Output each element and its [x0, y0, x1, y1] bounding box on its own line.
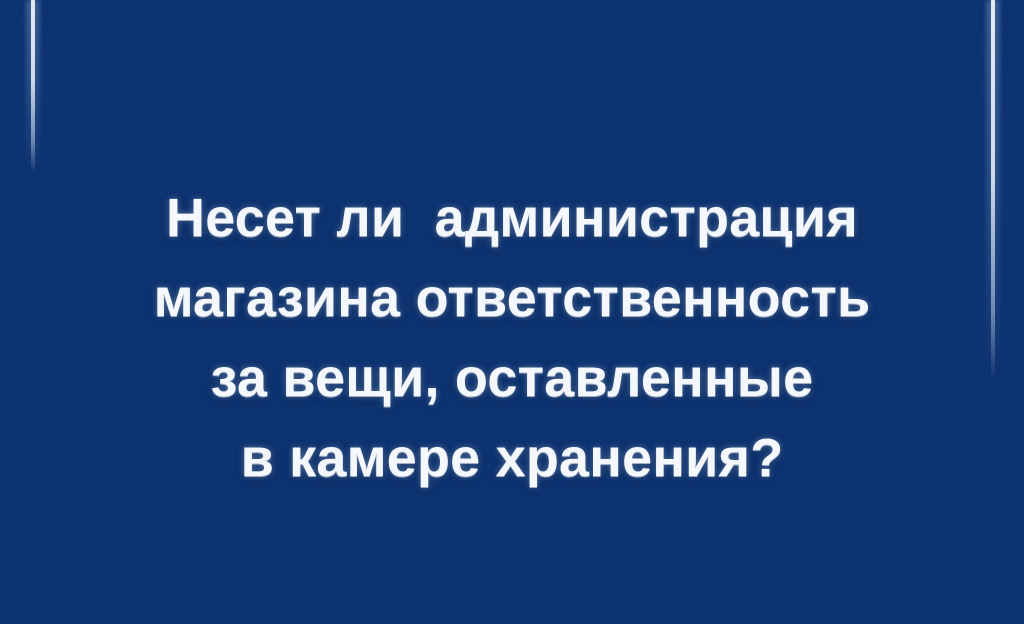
quote-line-4: в камере хранения? [0, 418, 1024, 498]
quote-text-block: Несет ли администрация магазина ответств… [0, 178, 1024, 498]
quote-card: Несет ли администрация магазина ответств… [0, 0, 1024, 624]
left-accent-line [31, 0, 35, 172]
quote-line-3: за вещи, оставленные [0, 338, 1024, 418]
left-accent-line-core [31, 0, 35, 172]
left-accent-line-glow [26, 0, 40, 172]
quote-line-2: магазина ответственность [0, 258, 1024, 338]
quote-line-1: Несет ли администрация [0, 178, 1024, 258]
